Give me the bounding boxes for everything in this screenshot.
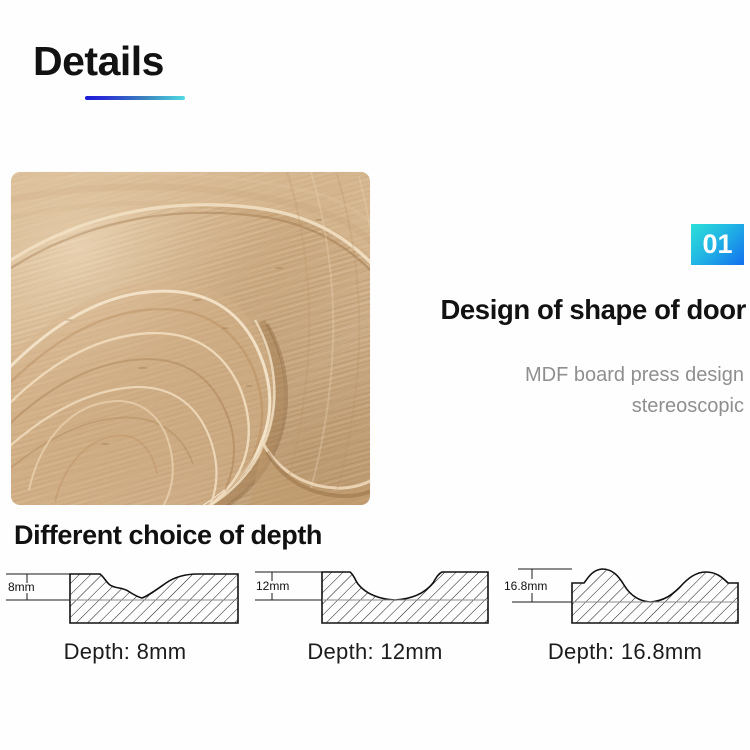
depth-caption-8mm: Depth: 8mm: [0, 639, 250, 665]
cross-section-12mm: 12mm: [250, 563, 500, 633]
cross-section-12mm-graphic: 12mm: [250, 563, 500, 633]
cross-section-8mm-graphic: 8mm: [0, 563, 250, 633]
depth-section-title: Different choice of depth: [14, 520, 322, 551]
profile-16-8mm: [572, 569, 738, 623]
depth-option-8mm: 8mm Depth: 8mm: [0, 563, 250, 678]
title-underline-accent: [85, 96, 185, 100]
profile-12mm: [322, 572, 488, 623]
wood-texture-graphic: [11, 172, 370, 505]
cross-section-16-8mm: 16.8mm: [500, 563, 750, 633]
feature-subtitle-line-2: stereoscopic: [314, 391, 744, 422]
depth-options-row: 8mm Depth: 8mm: [0, 563, 750, 678]
feature-heading: Design of shape of door: [326, 294, 746, 326]
profile-8mm: [70, 574, 238, 623]
depth-caption-12mm: Depth: 12mm: [250, 639, 500, 665]
cross-section-16-8mm-graphic: 16.8mm: [500, 563, 750, 633]
depth-caption-16-8mm: Depth: 16.8mm: [500, 639, 750, 665]
badge-number: 01: [702, 229, 732, 260]
cross-section-8mm: 8mm: [0, 563, 250, 633]
feature-subtitle: MDF board press design stereoscopic: [314, 360, 744, 422]
dimension-label-8mm: 8mm: [8, 580, 35, 594]
dimension-label-12mm: 12mm: [256, 579, 289, 593]
depth-option-16-8mm: 16.8mm Depth: 16.8mm: [500, 563, 750, 678]
feature-number-badge: 01: [691, 224, 744, 265]
feature-subtitle-line-1: MDF board press design: [314, 360, 744, 391]
wood-panel-image: [11, 172, 370, 505]
page-title: Details: [33, 38, 164, 85]
dimension-label-16-8mm: 16.8mm: [504, 579, 547, 593]
depth-option-12mm: 12mm Depth: 12mm: [250, 563, 500, 678]
